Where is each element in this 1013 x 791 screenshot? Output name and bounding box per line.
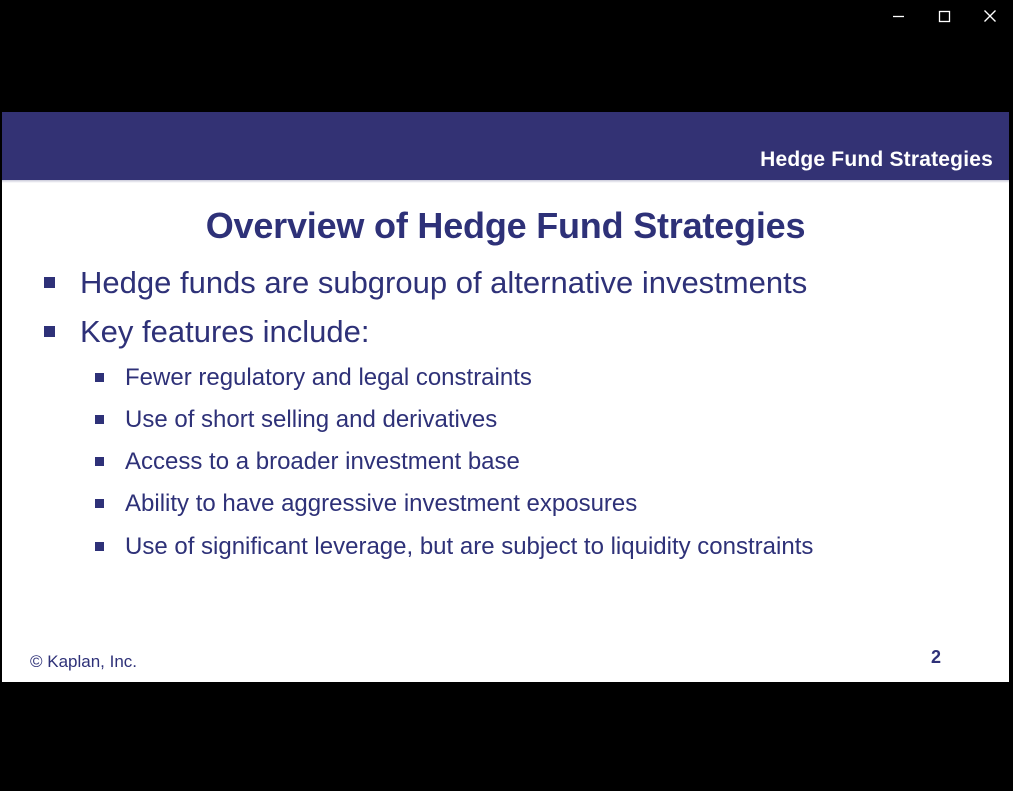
square-bullet-icon: [95, 457, 104, 466]
maximize-icon: [938, 10, 951, 23]
sub-bullet-list: Fewer regulatory and legal constraints U…: [80, 357, 1009, 568]
slide-header-banner: Hedge Fund Strategies: [2, 112, 1009, 180]
minimize-button[interactable]: [875, 1, 921, 31]
right-letterbox: [1009, 112, 1013, 682]
banner-title: Hedge Fund Strategies: [760, 148, 993, 172]
close-icon: [983, 9, 997, 23]
list-item: Key features include: Fewer regulatory a…: [2, 308, 1009, 568]
bullet-list: Hedge funds are subgroup of alternative …: [2, 245, 1009, 568]
list-item: Use of significant leverage, but are sub…: [80, 526, 1009, 568]
square-bullet-icon: [95, 542, 104, 551]
maximize-button[interactable]: [921, 1, 967, 31]
window-controls-group: [875, 0, 1013, 32]
slide-content-area: Overview of Hedge Fund Strategies Hedge …: [2, 183, 1009, 682]
window-titlebar: [0, 0, 1013, 112]
list-item-label: Use of significant leverage, but are sub…: [125, 533, 813, 560]
list-item: Ability to have aggressive investment ex…: [80, 483, 1009, 525]
list-item: Hedge funds are subgroup of alternative …: [2, 259, 1009, 308]
square-bullet-icon: [95, 415, 104, 424]
minimize-icon: [892, 10, 905, 23]
list-item-label: Use of short selling and derivatives: [125, 406, 497, 433]
presentation-slide[interactable]: Hedge Fund Strategies Overview of Hedge …: [2, 112, 1009, 682]
list-item-label: Ability to have aggressive investment ex…: [125, 490, 637, 517]
square-bullet-icon: [44, 326, 55, 337]
bottom-letterbox: [0, 682, 1013, 791]
list-item: Use of short selling and derivatives: [80, 399, 1009, 441]
square-bullet-icon: [44, 277, 55, 288]
page-title: Overview of Hedge Fund Strategies: [2, 183, 1009, 245]
square-bullet-icon: [95, 373, 104, 382]
list-item-label: Hedge funds are subgroup of alternative …: [80, 265, 807, 300]
list-item-label: Key features include:: [80, 314, 370, 349]
list-item-label: Fewer regulatory and legal constraints: [125, 364, 532, 391]
list-item: Fewer regulatory and legal constraints: [80, 357, 1009, 399]
copyright-notice: © Kaplan, Inc.: [30, 652, 137, 672]
slide-footer: © Kaplan, Inc. 2: [2, 634, 1009, 682]
close-button[interactable]: [967, 1, 1013, 31]
page-number: 2: [931, 647, 941, 668]
square-bullet-icon: [95, 499, 104, 508]
list-item-label: Access to a broader investment base: [125, 448, 520, 475]
list-item: Access to a broader investment base: [80, 441, 1009, 483]
